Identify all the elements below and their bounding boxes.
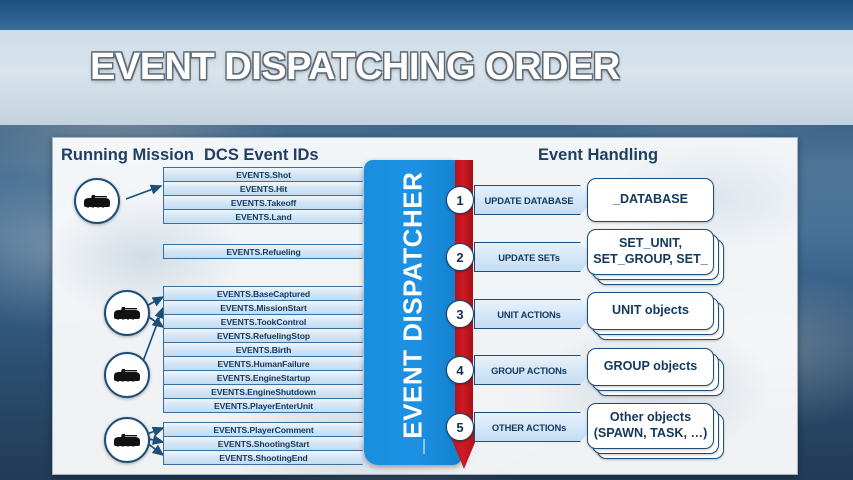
step-action-chevron[interactable]: UPDATE SETs — [474, 242, 594, 272]
step-objects-card[interactable]: SET_UNIT, SET_GROUP, SET_ — [587, 229, 714, 275]
event-id-bar[interactable]: EVENTS.RefuelingStop — [163, 328, 370, 343]
event-id-bar[interactable]: EVENTS.Hit — [163, 181, 370, 196]
event-id-label: EVENTS.TookControl — [221, 317, 306, 327]
event-id-bar[interactable]: EVENTS.Land — [163, 209, 370, 224]
event-id-bar[interactable]: EVENTS.EngineStartup — [163, 370, 370, 385]
event-dispatcher-label: _EVENT DISPATCHER — [399, 171, 426, 453]
step-objects-card[interactable]: _DATABASE — [587, 178, 714, 222]
step-action-label: UNIT ACTIONs — [497, 309, 560, 320]
event-id-bar[interactable]: EVENTS.EngineShutdown — [163, 384, 370, 399]
heading-running-mission: Running Mission — [61, 146, 194, 165]
step-action-chevron[interactable]: GROUP ACTIONs — [474, 355, 594, 385]
step-action-label: UPDATE SETs — [498, 252, 560, 263]
event-id-label: EVENTS.Takeoff — [231, 198, 296, 208]
event-id-label: EVENTS.BaseCaptured — [217, 289, 310, 299]
event-id-bar[interactable]: EVENTS.Refueling — [163, 244, 370, 259]
step-objects-cards: Other objects (SPAWN, TASK, …) — [587, 403, 727, 463]
armored-vehicle-glyph — [112, 305, 142, 321]
event-id-label: EVENTS.Birth — [236, 345, 292, 355]
armored-vehicle-glyph — [112, 432, 142, 448]
event-id-label: EVENTS.ShootingEnd — [219, 453, 307, 463]
heading-dcs-event-ids: DCS Event IDs — [204, 146, 319, 165]
event-id-label: EVENTS.HumanFailure — [217, 359, 309, 369]
event-id-label: EVENTS.MissionStart — [220, 303, 306, 313]
page-title: EVENT DISPATCHING ORDER — [90, 46, 620, 89]
event-id-label: EVENTS.RefuelingStop — [217, 331, 310, 341]
event-id-bar[interactable]: EVENTS.Takeoff — [163, 195, 370, 210]
step-objects-cards: _DATABASE — [587, 178, 722, 222]
event-id-label: EVENTS.Refueling — [226, 247, 300, 257]
armored-vehicle-icon — [104, 352, 150, 398]
event-id-label: EVENTS.PlayerComment — [213, 425, 313, 435]
step-action-label: GROUP ACTIONs — [491, 365, 567, 376]
step-action-chevron[interactable]: UNIT ACTIONs — [474, 299, 594, 329]
event-id-bar[interactable]: EVENTS.TookControl — [163, 314, 370, 329]
step-action-chevron[interactable]: UPDATE DATABASE — [474, 185, 594, 215]
event-id-label: EVENTS.EngineShutdown — [211, 387, 316, 397]
event-id-bar[interactable]: EVENTS.Birth — [163, 342, 370, 357]
event-id-bar[interactable]: EVENTS.ShootingEnd — [163, 450, 370, 465]
armored-vehicle-icon — [74, 178, 120, 224]
event-id-bar[interactable]: EVENTS.HumanFailure — [163, 356, 370, 371]
step-objects-cards: UNIT objects — [587, 292, 727, 344]
step-number-badge: 5 — [446, 413, 474, 441]
step-objects-cards: SET_UNIT, SET_GROUP, SET_ — [587, 229, 727, 285]
event-id-label: EVENTS.Land — [235, 212, 291, 222]
step-number-badge: 2 — [446, 243, 474, 271]
step-number-badge: 1 — [446, 186, 474, 214]
step-objects-card[interactable]: UNIT objects — [587, 292, 714, 330]
armored-vehicle-icon — [104, 290, 150, 336]
step-action-label: OTHER ACTIONs — [492, 422, 566, 433]
step-number-badge: 3 — [446, 300, 474, 328]
event-id-bar[interactable]: EVENTS.PlayerEnterUnit — [163, 398, 370, 413]
event-id-label: EVENTS.EngineStartup — [217, 373, 311, 383]
event-id-label: EVENTS.PlayerEnterUnit — [214, 401, 313, 411]
event-id-bar[interactable]: EVENTS.ShootingStart — [163, 436, 370, 451]
heading-event-handling: Event Handling — [538, 146, 658, 165]
step-action-label: UPDATE DATABASE — [485, 195, 574, 206]
event-id-label: EVENTS.Shot — [236, 170, 291, 180]
event-id-label: EVENTS.Hit — [240, 184, 287, 194]
step-number-badge: 4 — [446, 356, 474, 384]
armored-vehicle-glyph — [82, 193, 112, 209]
step-objects-cards: GROUP objects — [587, 348, 727, 400]
step-action-chevron[interactable]: OTHER ACTIONs — [474, 412, 594, 442]
event-id-bar[interactable]: EVENTS.Shot — [163, 167, 370, 182]
armored-vehicle-glyph — [112, 367, 142, 383]
event-id-bar[interactable]: EVENTS.PlayerComment — [163, 422, 370, 437]
event-id-label: EVENTS.ShootingStart — [218, 439, 310, 449]
step-objects-card[interactable]: GROUP objects — [587, 348, 714, 386]
event-id-bar[interactable]: EVENTS.MissionStart — [163, 300, 370, 315]
armored-vehicle-icon — [104, 417, 150, 463]
top-color-band — [0, 0, 853, 30]
step-objects-card[interactable]: Other objects (SPAWN, TASK, …) — [587, 403, 714, 449]
event-id-bar[interactable]: EVENTS.BaseCaptured — [163, 286, 370, 301]
